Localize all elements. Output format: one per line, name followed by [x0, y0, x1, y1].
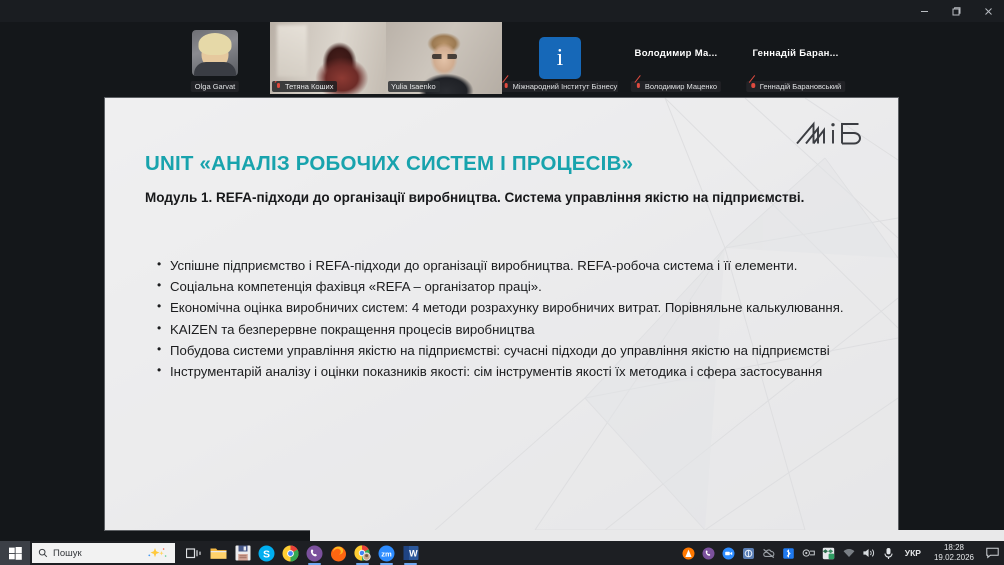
start-button[interactable] — [0, 541, 30, 565]
notification-icon[interactable] — [984, 545, 1000, 561]
windows-logo-icon — [9, 547, 22, 560]
participant-tile-hennadii-baranovskyi[interactable]: Геннадій Баран... Геннадій Барановський — [734, 22, 857, 94]
file-explorer-icon[interactable] — [209, 544, 228, 563]
viber-icon[interactable] — [305, 544, 324, 563]
close-button[interactable] — [972, 0, 1004, 22]
webcam-icon[interactable] — [802, 546, 816, 560]
slide-title: UNIT «АНАЛІЗ РОБОЧИХ СИСТЕМ І ПРОЦЕСІВ» — [145, 152, 845, 176]
svg-text:zm: zm — [381, 549, 392, 558]
list-item: Соціальна компетенція фахівця «REFA – ор… — [157, 277, 885, 297]
desktop-strip — [310, 530, 1004, 541]
participant-tile-olga-garvat[interactable]: Olga Garvat — [160, 22, 270, 94]
avatar — [192, 30, 238, 76]
mic-off-icon — [750, 82, 757, 91]
avast-icon[interactable] — [682, 546, 696, 560]
participant-name: Міжнародний Інститут Бізнесу — [513, 82, 618, 91]
participant-name-badge: Olga Garvat — [191, 81, 239, 92]
participant-display-name: Володимир Ма... — [618, 48, 734, 59]
zoom-meeting-window: Olga Garvat Тетяна Коших Yulia Isaenko i… — [0, 0, 1004, 565]
clock[interactable]: 18:28 19.02.2026 — [930, 543, 978, 563]
participant-filmstrip: Olga Garvat Тетяна Коших Yulia Isaenko i… — [0, 22, 1004, 97]
viber-tray-icon[interactable] — [702, 546, 716, 560]
task-view-icon[interactable] — [185, 544, 204, 563]
system-tray: УКР 18:28 19.02.2026 — [682, 543, 1004, 563]
skype-icon[interactable]: S — [257, 544, 276, 563]
minimize-button[interactable] — [908, 0, 940, 22]
mic-off-icon — [503, 82, 510, 91]
list-item: Успішне підприємство і REFA-підходи до о… — [157, 256, 885, 276]
window-titlebar — [0, 0, 1004, 22]
dropbox-icon[interactable] — [822, 546, 836, 560]
participant-name-badge: Володимир Маценко — [631, 81, 721, 92]
list-item: Побудова системи управління якістю на пі… — [157, 341, 885, 361]
wifi-icon[interactable] — [842, 546, 856, 560]
svg-text:S: S — [263, 548, 270, 560]
participant-tile-volodymyr-matsenko[interactable]: Володимир Ма... Володимир Маценко — [618, 22, 734, 94]
zoom-icon[interactable]: zm — [377, 544, 396, 563]
participant-name: Геннадій Барановський — [760, 82, 841, 91]
mic-off-icon — [275, 82, 282, 91]
svg-text:W: W — [409, 549, 418, 559]
mic-off-icon — [635, 82, 642, 91]
participant-name-badge: Тетяна Коших — [272, 81, 337, 92]
sparkle-icon — [146, 547, 168, 562]
participant-name: Тетяна Коших — [285, 82, 333, 91]
participant-name-badge: Yulia Isaenko — [388, 81, 440, 92]
slide-bullet-list: Успішне підприємство і REFA-підходи до о… — [157, 256, 885, 383]
participant-name: Володимир Маценко — [645, 82, 717, 91]
participant-name-badge: Міжнародний Інститут Бізнесу — [502, 81, 618, 92]
list-item: Економічна оцінка виробничих систем: 4 м… — [157, 298, 885, 318]
microphone-icon[interactable] — [882, 546, 896, 560]
firefox-icon[interactable] — [329, 544, 348, 563]
save-app-icon[interactable] — [233, 544, 252, 563]
chrome-icon[interactable] — [281, 544, 300, 563]
zoom-tray-icon[interactable] — [722, 546, 736, 560]
language-indicator[interactable]: УКР — [902, 548, 924, 558]
search-icon — [38, 548, 48, 558]
clock-date: 19.02.2026 — [934, 553, 974, 563]
volume-icon[interactable] — [862, 546, 876, 560]
participant-tile-mib[interactable]: i Міжнародний Інститут Бізнесу — [502, 22, 618, 94]
network-tray-icon[interactable] — [742, 546, 756, 560]
taskbar-app-icons: S — [185, 544, 420, 563]
windows-taskbar: Пошук — [0, 541, 1004, 565]
shared-screen-slide[interactable]: UNIT «АНАЛІЗ РОБОЧИХ СИСТЕМ І ПРОЦЕСІВ» … — [105, 98, 898, 530]
list-item: Інструментарій аналізу і оцінки показник… — [157, 362, 885, 382]
list-item: KAIZEN та безперервне покращення процесі… — [157, 320, 885, 340]
restore-button[interactable] — [940, 0, 972, 22]
participant-tile-tetyana-koshykh[interactable]: Тетяна Коших — [270, 22, 386, 94]
slide-subtitle: Модуль 1. REFA-підходи до організації ви… — [145, 188, 805, 209]
participant-tile-yulia-isaenko[interactable]: Yulia Isaenko — [386, 22, 502, 94]
chrome-profile-icon[interactable] — [353, 544, 372, 563]
avatar-initial: i — [539, 37, 581, 79]
mib-logo-icon — [794, 118, 872, 148]
bluetooth-icon[interactable] — [782, 546, 796, 560]
participant-display-name: Геннадій Баран... — [734, 48, 857, 59]
word-icon[interactable]: W — [401, 544, 420, 563]
participant-name: Yulia Isaenko — [391, 82, 436, 91]
participant-name: Olga Garvat — [195, 82, 235, 91]
participant-name-badge: Геннадій Барановський — [746, 81, 845, 92]
clock-time: 18:28 — [934, 543, 974, 553]
search-placeholder-text: Пошук — [53, 548, 82, 559]
search-input[interactable]: Пошук — [32, 543, 175, 563]
cloud-off-icon[interactable] — [762, 546, 776, 560]
